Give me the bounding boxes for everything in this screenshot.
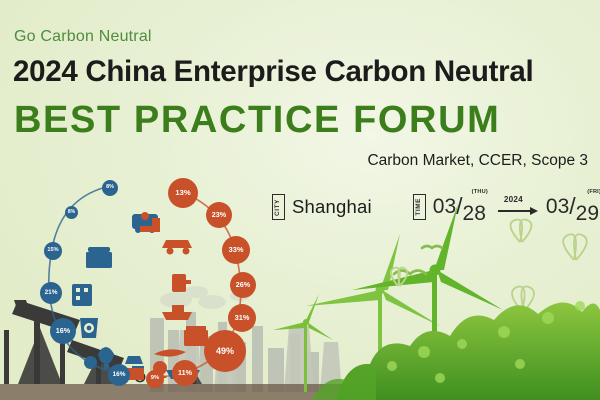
date-range-group: TIME 03 / 28 (THU) 2024 03 / 29 (FRI) <box>413 194 599 220</box>
emissions-arc-infographic: 8% 8% 15% 21% 16% 16% 13% 23% 33% 26% 31… <box>36 178 266 388</box>
bubble-blue-4: 21% <box>40 282 62 304</box>
bubble-blue-6 <box>84 356 97 369</box>
end-month: 03 <box>546 196 569 217</box>
bubble-orange-4: 26% <box>230 272 256 298</box>
end-day: 29 <box>576 203 599 224</box>
arrow-line-icon <box>498 210 532 212</box>
page-title: 2024 China Enterprise Carbon Neutral <box>13 55 533 89</box>
time-label-text: TIME <box>416 198 422 216</box>
city-value: Shanghai <box>292 196 372 218</box>
tagline-text: Carbon Market, CCER, Scope 3 <box>367 152 588 170</box>
event-banner: 8% 8% 15% 21% 16% 16% 13% 23% 33% 26% 31… <box>0 0 600 400</box>
year-arrow: 2024 <box>496 196 540 218</box>
bubble-blue-3: 15% <box>44 242 62 260</box>
city-label-badge: CITY <box>272 194 285 220</box>
year-label: 2024 <box>504 195 523 204</box>
eyebrow-text: Go Carbon Neutral <box>14 28 152 46</box>
start-day: 28 <box>463 203 486 224</box>
bubble-orange-5: 31% <box>228 304 256 332</box>
bird-icon <box>394 246 442 274</box>
bubble-blue-1: 8% <box>102 180 118 196</box>
arrow-head-icon <box>530 207 538 215</box>
page-subtitle: BEST PRACTICE FORUM <box>14 99 500 142</box>
wind-turbine-icon <box>273 204 503 392</box>
event-meta-row: CITY Shanghai TIME 03 / 28 (THU) 2024 03… <box>272 190 599 224</box>
bubble-orange-2: 23% <box>206 202 232 228</box>
bubble-orange-7: 11% <box>172 360 198 386</box>
city-label-text: CITY <box>275 199 281 216</box>
bubble-orange-6: 49% <box>204 330 246 372</box>
bubble-blue-2: 8% <box>65 206 78 219</box>
bubble-blue-7: 16% <box>108 364 130 386</box>
bubble-orange-3: 33% <box>222 236 250 264</box>
start-month: 03 <box>433 196 456 217</box>
end-weekday: (FRI) <box>587 190 600 196</box>
bubble-blue-5: 16% <box>50 318 76 344</box>
time-label-badge: TIME <box>413 194 426 220</box>
bubble-orange-1: 13% <box>168 178 198 208</box>
foliage-icon <box>336 302 600 400</box>
start-date: 03 / 28 (THU) <box>433 196 486 219</box>
end-date: 03 / 29 (FRI) <box>546 196 599 219</box>
butterfly-icon <box>391 219 587 311</box>
bubble-orange-8: 9% <box>146 370 164 388</box>
orange-icon-cluster <box>118 212 208 380</box>
start-weekday: (THU) <box>472 190 488 196</box>
